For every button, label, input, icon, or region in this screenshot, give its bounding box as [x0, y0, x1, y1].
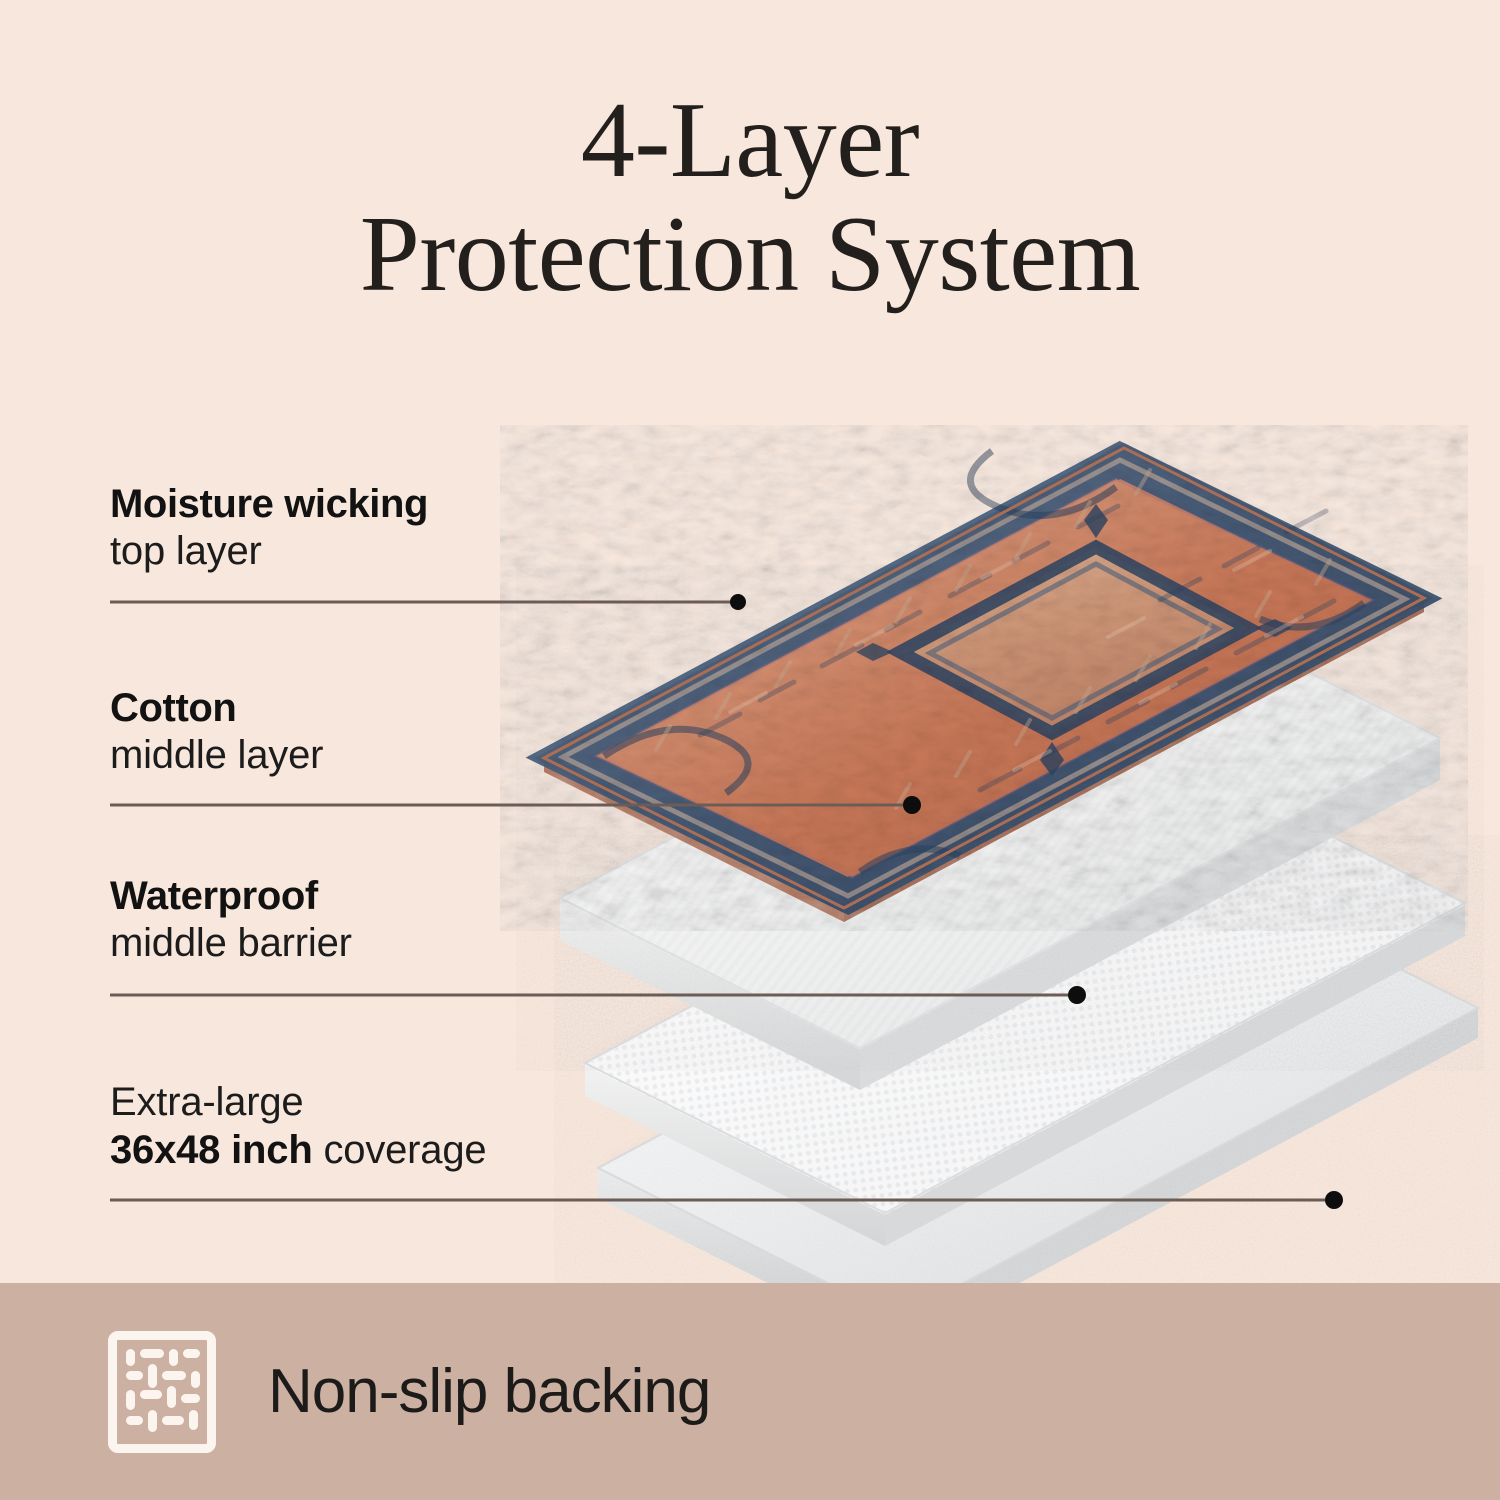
leader-dot-4: [1325, 1191, 1343, 1209]
callout-subtitle: top layer: [110, 527, 428, 575]
size-value: 36x48 inch: [110, 1128, 313, 1172]
leader-dot-2: [903, 796, 921, 814]
callout-size-coverage: Extra-large 36x48 inch coverage: [110, 1078, 486, 1174]
size-line-1: Extra-large: [110, 1078, 486, 1126]
callout-subtitle: middle layer: [110, 731, 323, 779]
callout-cotton: Cotton middle layer: [110, 686, 323, 779]
leader-dot-1: [730, 594, 746, 610]
non-slip-banner: Non-slip backing: [0, 1283, 1500, 1500]
size-line-2: 36x48 inch coverage: [110, 1126, 486, 1174]
callout-waterproof: Waterproof middle barrier: [110, 874, 352, 967]
callout-title: Waterproof: [110, 874, 352, 919]
infographic-page: 4-Layer Protection System: [0, 0, 1500, 1500]
callout-moisture-wicking: Moisture wicking top layer: [110, 482, 428, 575]
callout-subtitle: middle barrier: [110, 919, 352, 967]
leader-dot-3: [1068, 986, 1086, 1004]
non-slip-weave-icon: [108, 1331, 216, 1453]
size-suffix: coverage: [313, 1128, 487, 1172]
callout-title: Cotton: [110, 686, 323, 731]
non-slip-label: Non-slip backing: [268, 1356, 710, 1427]
callout-title: Moisture wicking: [110, 482, 428, 527]
